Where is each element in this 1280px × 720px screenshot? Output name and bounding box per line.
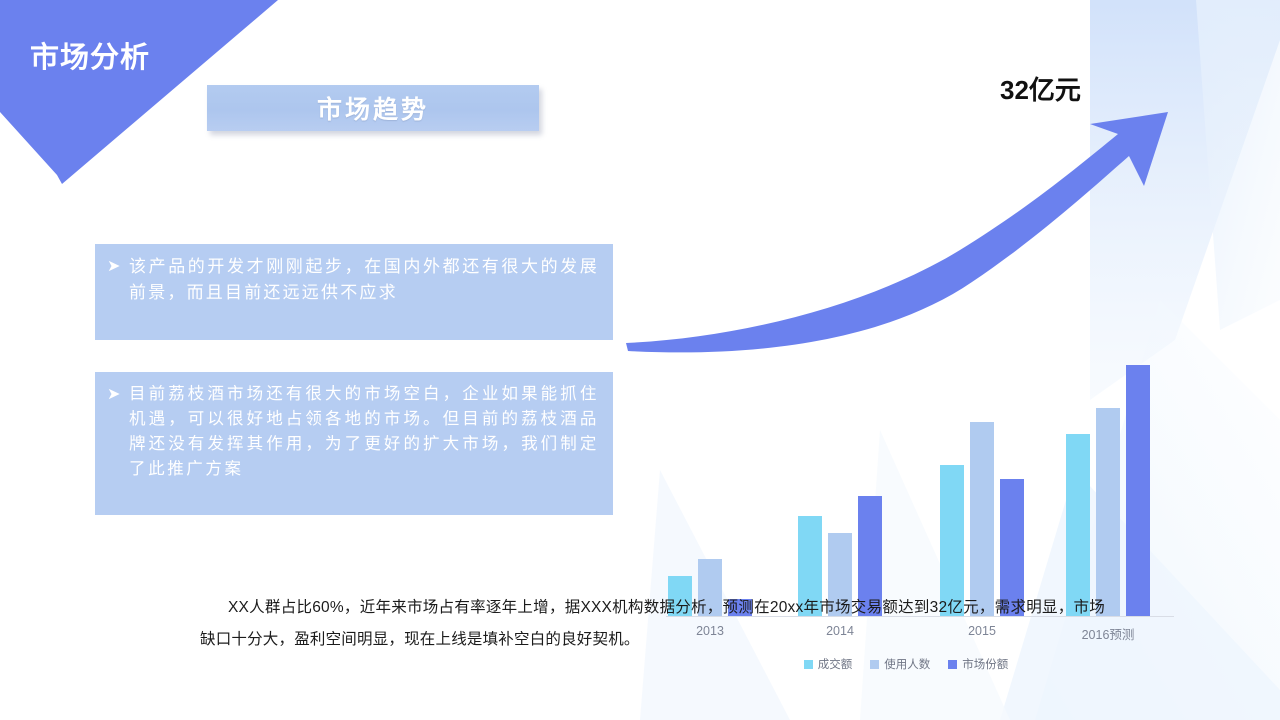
bullet-box-1-text: 该产品的开发才刚刚起步，在国内外都还有很大的发展前景，而且目前还远远供不应求 (129, 254, 599, 330)
legend-swatch-icon (870, 660, 879, 669)
chart-legend-item: 市场份额 (948, 656, 1008, 672)
callout-value: 32亿元 (1000, 70, 1081, 107)
section-banner-label: 市场趋势 (207, 85, 539, 131)
bullet-box-2-text: 目前荔枝酒市场还有很大的市场空白，企业如果能抓住机遇，可以很好地占领各地的市场。… (129, 382, 599, 505)
market-trend-chart: 2013201420152016预测 成交额使用人数市场份额 (620, 110, 1180, 510)
bullet-box-2: ➤ 目前荔枝酒市场还有很大的市场空白，企业如果能抓住机遇，可以很好地占领各地的市… (95, 372, 613, 515)
chart-plot-area: 2013201420152016预测 成交额使用人数市场份额 (648, 220, 1164, 615)
chart-bar (1096, 408, 1120, 616)
bullet-box-1: ➤ 该产品的开发才刚刚起步，在国内外都还有很大的发展前景，而且目前还远远供不应求 (95, 244, 613, 340)
page-title: 市场分析 (30, 34, 150, 76)
chart-legend-item: 成交额 (804, 656, 853, 672)
chart-bar (1066, 434, 1090, 616)
legend-label: 使用人数 (884, 656, 930, 672)
arrow-bullet-icon: ➤ (107, 382, 129, 505)
chart-legend-item: 使用人数 (870, 656, 930, 672)
arrow-bullet-icon: ➤ (107, 254, 129, 330)
slide-caption: XX人群占比60%，近年来市场占有率逐年上增，据XXX机构数据分析，预测在20x… (200, 592, 1105, 656)
chart-bar-group (798, 220, 882, 616)
chart-legend: 成交额使用人数市场份额 (648, 656, 1164, 672)
chart-bars (648, 220, 1164, 616)
chart-bar-group (1066, 220, 1150, 616)
legend-label: 成交额 (818, 656, 853, 672)
legend-label: 市场份额 (962, 656, 1008, 672)
chart-bar-group (668, 220, 752, 616)
slide: 市场分析 市场趋势 ➤ 该产品的开发才刚刚起步，在国内外都还有很大的发展前景，而… (0, 0, 1280, 720)
chart-bar (1126, 365, 1150, 616)
chart-bar-group (940, 220, 1024, 616)
legend-swatch-icon (948, 660, 957, 669)
legend-swatch-icon (804, 660, 813, 669)
chart-bar (970, 422, 994, 616)
section-banner: 市场趋势 (207, 85, 539, 131)
